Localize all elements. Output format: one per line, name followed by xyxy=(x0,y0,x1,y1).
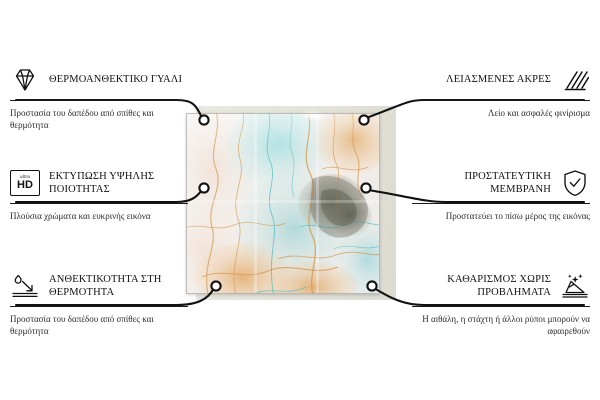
feature-header: ΠΡΟΣΤΑΤΕΥΤΙΚΗ ΜΕΜΒΡΑΝΗ xyxy=(412,166,590,200)
feature-divider xyxy=(412,306,590,307)
feature-protective-film: ΠΡΟΣΤΑΤΕΥΤΙΚΗ ΜΕΜΒΡΑΝΗ Προστατεύει το πί… xyxy=(412,166,590,222)
feature-title: ΛΕΙΑΣΜΕΝΕΣ ΑΚΡΕΣ xyxy=(412,73,551,87)
feature-title: ΕΚΤΥΠΩΣΗ ΥΨΗΛΗΣ ΠΟΙΟΤΗΤΑΣ xyxy=(49,170,188,197)
feature-high-quality-print: ultra HD ΕΚΤΥΠΩΣΗ ΥΨΗΛΗΣ ΠΟΙΟΤΗΤΑΣ Πλούσ… xyxy=(10,166,188,222)
feature-header: ΚΑΘΑΡΙΣΜΟΣ ΧΩΡΙΣ ΠΡΟΒΛΗΜΑΤΑ xyxy=(412,269,590,303)
feature-heat-resistant-glass: ΘΕΡΜΟΑΝΘΕΚΤΙΚΟ ΓΥΑΛΙ Προστασία του δαπέδ… xyxy=(10,63,188,131)
feature-title: ΑΝΘΕΚΤΙΚΟΤΗΤΑ ΣΤΗ ΘΕΡΜΟΤΗΤΑ xyxy=(49,273,188,300)
easy-clean-icon xyxy=(560,271,590,301)
product-image-panel xyxy=(186,113,380,294)
feature-description: Προστατεύει το πίσω μέρος της εικόνας xyxy=(412,210,590,222)
feature-header: ΑΝΘΕΚΤΙΚΟΤΗΤΑ ΣΤΗ ΘΕΡΜΟΤΗΤΑ xyxy=(10,269,188,303)
polished-edges-icon xyxy=(560,65,590,95)
feature-description: Πλούσια χρώματα και ευκρινής εικόνα xyxy=(10,210,188,222)
ultra-hd-badge-large-text: HD xyxy=(17,180,33,191)
feature-description: Λείο και ασφαλές φινίρισμα xyxy=(412,107,590,119)
diamond-icon xyxy=(10,65,40,95)
heat-resistant-icon xyxy=(10,271,40,301)
shield-check-icon xyxy=(560,168,590,198)
feature-divider xyxy=(10,306,188,307)
feature-divider xyxy=(10,100,188,101)
feature-description: Η αιθάλη, η στάχτη ή άλλοι ρύποι μπορούν… xyxy=(412,313,590,337)
infographic-stage: ΘΕΡΜΟΑΝΘΕΚΤΙΚΟ ΓΥΑΛΙ Προστασία του δαπέδ… xyxy=(0,0,600,400)
feature-header: ultra HD ΕΚΤΥΠΩΣΗ ΥΨΗΛΗΣ ΠΟΙΟΤΗΤΑΣ xyxy=(10,166,188,200)
feature-description: Προστασία του δαπέδου από σπίθες και θερ… xyxy=(10,107,188,131)
feature-divider xyxy=(412,203,590,204)
feature-title: ΠΡΟΣΤΑΤΕΥΤΙΚΗ ΜΕΜΒΡΑΝΗ xyxy=(412,170,551,197)
feature-description: Προστασία του δαπέδου από σπίθες και θερ… xyxy=(10,313,188,337)
abstract-marble-artwork xyxy=(186,113,380,294)
feature-heat-durability: ΑΝΘΕΚΤΙΚΟΤΗΤΑ ΣΤΗ ΘΕΡΜΟΤΗΤΑ Προστασία το… xyxy=(10,269,188,337)
feature-title: ΘΕΡΜΟΑΝΘΕΚΤΙΚΟ ΓΥΑΛΙ xyxy=(49,73,188,87)
feature-header: ΛΕΙΑΣΜΕΝΕΣ ΑΚΡΕΣ xyxy=(412,63,590,97)
feature-easy-cleaning: ΚΑΘΑΡΙΣΜΟΣ ΧΩΡΙΣ ΠΡΟΒΛΗΜΑΤΑ Η αιθάλη, η … xyxy=(412,269,590,337)
feature-divider xyxy=(10,203,188,204)
feature-header: ΘΕΡΜΟΑΝΘΕΚΤΙΚΟ ΓΥΑΛΙ xyxy=(10,63,188,97)
feature-polished-edges: ΛΕΙΑΣΜΕΝΕΣ ΑΚΡΕΣ Λείο και ασφαλές φινίρι… xyxy=(412,63,590,119)
ultra-hd-badge-icon: ultra HD xyxy=(10,168,40,198)
feature-divider xyxy=(412,100,590,101)
feature-title: ΚΑΘΑΡΙΣΜΟΣ ΧΩΡΙΣ ΠΡΟΒΛΗΜΑΤΑ xyxy=(412,273,551,300)
